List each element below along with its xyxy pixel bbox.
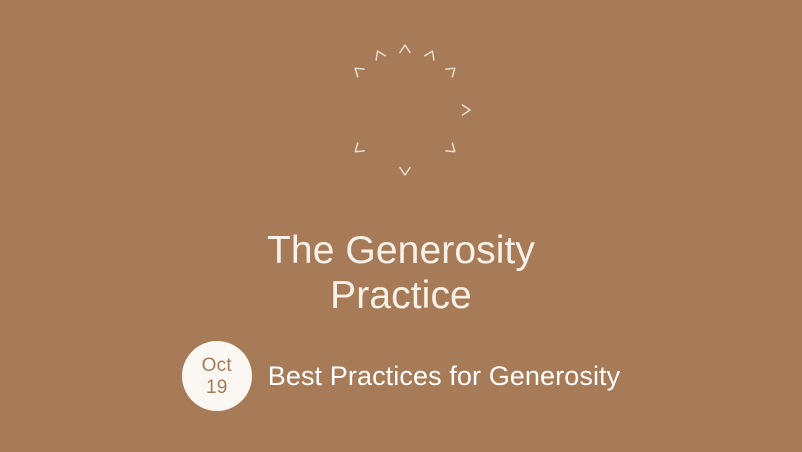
title-line-1: The Generosity <box>0 228 802 273</box>
event-subtitle: Best Practices for Generosity <box>268 361 621 392</box>
date-badge-month: Oct <box>202 356 232 375</box>
chevron-ring-ornament <box>305 10 505 210</box>
chevron-mark-3 <box>425 51 434 60</box>
chevron-mark-7 <box>400 168 410 175</box>
chevron-mark-4 <box>446 68 455 77</box>
event-slide: The Generosity Practice Oct 19 Best Prac… <box>0 0 802 452</box>
chevron-ring-svg <box>305 10 505 210</box>
chevron-mark-6 <box>446 143 455 152</box>
date-badge: Oct 19 <box>182 341 252 411</box>
chevron-mark-0 <box>355 68 364 77</box>
chevron-mark-1 <box>376 51 385 60</box>
chevron-mark-8 <box>355 143 364 152</box>
event-details-row: Oct 19 Best Practices for Generosity <box>0 341 802 411</box>
date-badge-day: 19 <box>206 378 228 397</box>
title-line-2: Practice <box>0 273 802 318</box>
page-title: The Generosity Practice <box>0 228 802 318</box>
chevron-mark-5 <box>463 105 470 115</box>
chevron-mark-group <box>355 45 470 175</box>
chevron-mark-2 <box>400 45 410 52</box>
